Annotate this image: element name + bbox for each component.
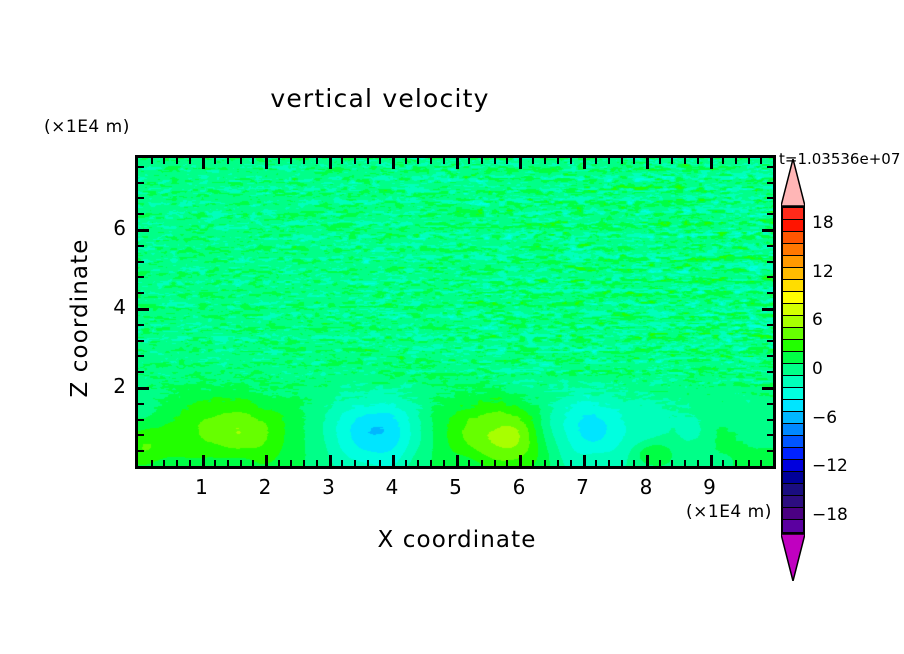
y-tick-minor-right xyxy=(767,371,773,373)
x-tick-major-top xyxy=(392,158,395,169)
x-tick-minor-top xyxy=(430,158,432,164)
colorbar-band xyxy=(783,376,803,388)
x-tick-minor-top xyxy=(227,158,229,164)
x-tick-minor xyxy=(468,460,470,466)
y-tick-minor xyxy=(138,403,144,405)
x-tick-minor xyxy=(659,460,661,466)
y-tick-minor xyxy=(138,450,144,452)
y-tick-minor xyxy=(138,261,144,263)
colorbar-band xyxy=(783,436,803,448)
x-axis-unit-label: (×1E4 m) xyxy=(686,502,772,522)
x-tick-minor-top xyxy=(252,158,254,164)
x-tick-minor-top xyxy=(405,158,407,164)
y-axis-title: Z coordinate xyxy=(67,208,93,428)
colorbar-band xyxy=(783,292,803,304)
colorbar-band xyxy=(783,340,803,352)
colorbar-band xyxy=(783,448,803,460)
x-tick-minor xyxy=(227,460,229,466)
x-tick-minor-top xyxy=(367,158,369,164)
x-tick-minor-top xyxy=(557,158,559,164)
y-tick-minor xyxy=(138,245,144,247)
x-tick-minor-top xyxy=(481,158,483,164)
colorbar-band xyxy=(783,496,803,508)
colorbar-band xyxy=(783,328,803,340)
y-tick-minor xyxy=(138,340,144,342)
colorbar-band xyxy=(783,256,803,268)
colorbar-band xyxy=(783,424,803,436)
x-tick-minor-top xyxy=(544,158,546,164)
x-tick-major xyxy=(392,455,395,466)
colorbar-band xyxy=(783,520,803,532)
x-tick-major-top xyxy=(265,158,268,169)
x-tick-label: 5 xyxy=(436,475,476,499)
x-tick-minor xyxy=(608,460,610,466)
x-tick-minor-top xyxy=(290,158,292,164)
x-tick-major-top xyxy=(456,158,459,169)
x-tick-minor-top xyxy=(354,158,356,164)
colorbar-band xyxy=(783,412,803,424)
x-tick-minor-top xyxy=(151,158,153,164)
x-tick-minor-top xyxy=(659,158,661,164)
x-tick-minor xyxy=(417,460,419,466)
x-tick-major-top xyxy=(710,158,713,169)
y-tick-major xyxy=(138,308,149,311)
y-tick-label: 2 xyxy=(96,374,126,398)
x-tick-minor-top xyxy=(240,158,242,164)
x-tick-minor xyxy=(722,460,724,466)
x-tick-major xyxy=(202,455,205,466)
x-tick-minor xyxy=(735,460,737,466)
x-tick-minor xyxy=(570,460,572,466)
x-tick-minor xyxy=(506,460,508,466)
colorbar-under-cap-icon xyxy=(781,534,805,581)
x-tick-minor xyxy=(443,460,445,466)
x-tick-minor-top xyxy=(621,158,623,164)
x-tick-minor-top xyxy=(341,158,343,164)
y-tick-minor-right xyxy=(767,403,773,405)
y-tick-minor xyxy=(138,419,144,421)
y-tick-label: 6 xyxy=(96,216,126,240)
colorbar[interactable]: 181260−6−12−18 xyxy=(781,206,805,534)
x-tick-label: 7 xyxy=(563,475,603,499)
y-tick-minor-right xyxy=(767,166,773,168)
y-tick-label: 4 xyxy=(96,295,126,319)
x-tick-minor-top xyxy=(608,158,610,164)
x-tick-minor-top xyxy=(303,158,305,164)
colorbar-band xyxy=(783,388,803,400)
x-tick-minor xyxy=(290,460,292,466)
colorbar-band xyxy=(783,508,803,520)
x-tick-minor xyxy=(278,460,280,466)
y-tick-minor-right xyxy=(767,324,773,326)
y-tick-minor-right xyxy=(767,292,773,294)
x-tick-minor-top xyxy=(748,158,750,164)
colorbar-tick-label: 12 xyxy=(812,262,834,282)
y-tick-major xyxy=(138,387,149,390)
colorbar-band xyxy=(783,232,803,244)
x-tick-minor-top xyxy=(214,158,216,164)
y-tick-minor-right xyxy=(767,450,773,452)
x-tick-minor-top xyxy=(595,158,597,164)
x-tick-minor xyxy=(240,460,242,466)
colorbar-over-cap-icon xyxy=(781,159,805,206)
y-tick-minor-right xyxy=(767,419,773,421)
x-tick-minor-top xyxy=(722,158,724,164)
y-tick-minor-right xyxy=(767,245,773,247)
x-tick-minor-top xyxy=(443,158,445,164)
colorbar-band xyxy=(783,484,803,496)
colorbar-bands xyxy=(781,206,805,534)
x-tick-minor-top xyxy=(163,158,165,164)
x-tick-minor-top xyxy=(494,158,496,164)
x-tick-minor xyxy=(697,460,699,466)
colorbar-band xyxy=(783,268,803,280)
colorbar-tick-label: −12 xyxy=(812,456,848,476)
plot-area[interactable] xyxy=(135,155,776,469)
x-tick-minor xyxy=(621,460,623,466)
x-tick-minor-top xyxy=(760,158,762,164)
x-tick-minor-top xyxy=(570,158,572,164)
x-tick-minor xyxy=(544,460,546,466)
y-tick-minor xyxy=(138,355,144,357)
x-axis-title: X coordinate xyxy=(137,527,777,553)
x-tick-minor-top xyxy=(189,158,191,164)
x-tick-minor-top xyxy=(735,158,737,164)
y-tick-minor xyxy=(138,434,144,436)
x-tick-major xyxy=(456,455,459,466)
x-tick-minor xyxy=(671,460,673,466)
x-tick-minor xyxy=(316,460,318,466)
x-tick-label: 2 xyxy=(245,475,285,499)
y-tick-minor-right xyxy=(767,340,773,342)
x-tick-label: 6 xyxy=(499,475,539,499)
x-tick-label: 4 xyxy=(372,475,412,499)
x-tick-major-top xyxy=(646,158,649,169)
x-tick-minor xyxy=(481,460,483,466)
x-tick-minor xyxy=(633,460,635,466)
contour-field xyxy=(138,158,773,466)
y-tick-minor xyxy=(138,371,144,373)
colorbar-band xyxy=(783,316,803,328)
x-tick-minor xyxy=(748,460,750,466)
x-tick-minor xyxy=(176,460,178,466)
x-tick-minor-top xyxy=(316,158,318,164)
y-tick-minor xyxy=(138,213,144,215)
x-tick-major xyxy=(583,455,586,466)
y-tick-minor-right xyxy=(767,276,773,278)
x-tick-minor xyxy=(379,460,381,466)
x-tick-minor xyxy=(252,460,254,466)
page-title: vertical velocity xyxy=(0,84,760,113)
x-tick-major-top xyxy=(202,158,205,169)
y-tick-minor-right xyxy=(767,213,773,215)
x-tick-minor-top xyxy=(176,158,178,164)
x-tick-major xyxy=(710,455,713,466)
x-tick-label: 3 xyxy=(309,475,349,499)
y-tick-minor-right xyxy=(767,434,773,436)
colorbar-tick-label: −6 xyxy=(812,408,837,428)
y-tick-major-right xyxy=(762,308,773,311)
colorbar-tick-label: −18 xyxy=(812,505,848,525)
x-tick-minor-top xyxy=(506,158,508,164)
y-tick-minor xyxy=(138,197,144,199)
x-tick-minor xyxy=(684,460,686,466)
x-tick-minor-top xyxy=(684,158,686,164)
y-tick-major-right xyxy=(762,229,773,232)
y-tick-minor xyxy=(138,324,144,326)
x-tick-major xyxy=(329,455,332,466)
x-tick-major-top xyxy=(583,158,586,169)
x-tick-minor xyxy=(494,460,496,466)
x-tick-minor xyxy=(341,460,343,466)
x-tick-label: 8 xyxy=(626,475,666,499)
colorbar-band xyxy=(783,208,803,220)
y-tick-minor xyxy=(138,276,144,278)
y-tick-minor-right xyxy=(767,182,773,184)
colorbar-band xyxy=(783,220,803,232)
colorbar-band xyxy=(783,460,803,472)
colorbar-tick-label: 0 xyxy=(812,359,823,379)
x-tick-minor xyxy=(354,460,356,466)
colorbar-band xyxy=(783,304,803,316)
x-tick-minor xyxy=(151,460,153,466)
x-tick-label: 1 xyxy=(182,475,222,499)
x-tick-major xyxy=(265,455,268,466)
x-tick-minor xyxy=(405,460,407,466)
x-tick-minor xyxy=(595,460,597,466)
x-tick-minor xyxy=(760,460,762,466)
x-tick-minor xyxy=(214,460,216,466)
y-tick-major-right xyxy=(762,387,773,390)
x-tick-minor xyxy=(430,460,432,466)
x-tick-major xyxy=(646,455,649,466)
x-tick-minor-top xyxy=(532,158,534,164)
x-tick-label: 9 xyxy=(690,475,730,499)
y-tick-major xyxy=(138,229,149,232)
colorbar-tick-label: 18 xyxy=(812,213,834,233)
y-tick-minor xyxy=(138,292,144,294)
x-tick-minor-top xyxy=(278,158,280,164)
x-tick-minor-top xyxy=(379,158,381,164)
x-tick-major-top xyxy=(519,158,522,169)
x-tick-minor-top xyxy=(633,158,635,164)
y-tick-minor-right xyxy=(767,261,773,263)
x-tick-minor-top xyxy=(697,158,699,164)
x-tick-minor xyxy=(557,460,559,466)
y-tick-minor xyxy=(138,182,144,184)
x-tick-minor xyxy=(303,460,305,466)
y-axis-unit-label: (×1E4 m) xyxy=(44,117,130,137)
y-tick-minor-right xyxy=(767,355,773,357)
colorbar-band xyxy=(783,352,803,364)
colorbar-band xyxy=(783,472,803,484)
colorbar-band xyxy=(783,400,803,412)
x-tick-minor xyxy=(367,460,369,466)
colorbar-band xyxy=(783,364,803,376)
figure-canvas: vertical velocity (×1E4 m) t=1.03536e+07… xyxy=(0,0,904,654)
x-tick-minor xyxy=(189,460,191,466)
x-tick-minor xyxy=(163,460,165,466)
x-tick-major xyxy=(519,455,522,466)
colorbar-band xyxy=(783,280,803,292)
x-tick-minor-top xyxy=(468,158,470,164)
colorbar-tick-label: 6 xyxy=(812,310,823,330)
colorbar-band xyxy=(783,244,803,256)
y-tick-minor xyxy=(138,166,144,168)
x-tick-major-top xyxy=(329,158,332,169)
x-tick-minor xyxy=(532,460,534,466)
x-tick-minor-top xyxy=(671,158,673,164)
y-tick-minor-right xyxy=(767,197,773,199)
x-tick-minor-top xyxy=(417,158,419,164)
